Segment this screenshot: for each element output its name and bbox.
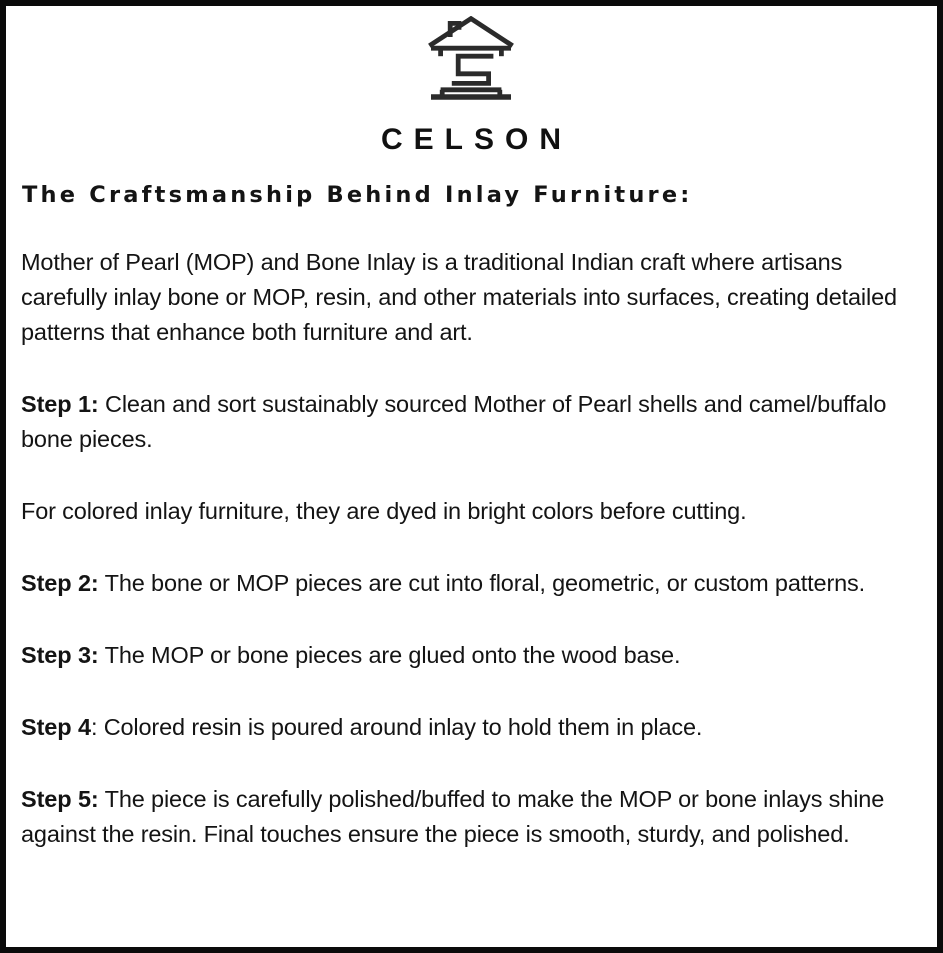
page-title: The Craftsmanship Behind Inlay Furniture… (22, 182, 925, 209)
intro-paragraph: Mother of Pearl (MOP) and Bone Inlay is … (21, 245, 907, 350)
step-4-label: Step 4 (21, 714, 91, 740)
step-2-paragraph: Step 2: The bone or MOP pieces are cut i… (21, 566, 907, 601)
poster-frame: CELSON The Craftsmanship Behind Inlay Fu… (0, 0, 943, 953)
step-5-paragraph: Step 5: The piece is carefully polished/… (21, 782, 907, 852)
brand-name: CELSON (17, 124, 925, 156)
step-2-text: The bone or MOP pieces are cut into flor… (99, 570, 865, 596)
step-3-text: The MOP or bone pieces are glued onto th… (99, 642, 681, 668)
step-5-label: Step 5: (21, 786, 99, 812)
step-5-text: The piece is carefully polished/buffed t… (21, 786, 884, 847)
step-4-text: : Colored resin is poured around inlay t… (91, 714, 702, 740)
step-3-paragraph: Step 3: The MOP or bone pieces are glued… (21, 638, 907, 673)
step-2-label: Step 2: (21, 570, 99, 596)
step-1-text: Clean and sort sustainably sourced Mothe… (21, 391, 886, 452)
step-3-label: Step 3: (21, 642, 99, 668)
step-1-paragraph: Step 1: Clean and sort sustainably sourc… (21, 387, 907, 457)
step-1-label: Step 1: (21, 391, 99, 417)
house-monogram-logo-icon (423, 16, 519, 114)
brand-block: CELSON (17, 10, 925, 156)
step-4-paragraph: Step 4: Colored resin is poured around i… (21, 710, 907, 745)
poster-content: CELSON The Craftsmanship Behind Inlay Fu… (6, 6, 937, 947)
article-body: Mother of Pearl (MOP) and Bone Inlay is … (21, 245, 925, 852)
colored-inlay-note: For colored inlay furniture, they are dy… (21, 494, 907, 529)
